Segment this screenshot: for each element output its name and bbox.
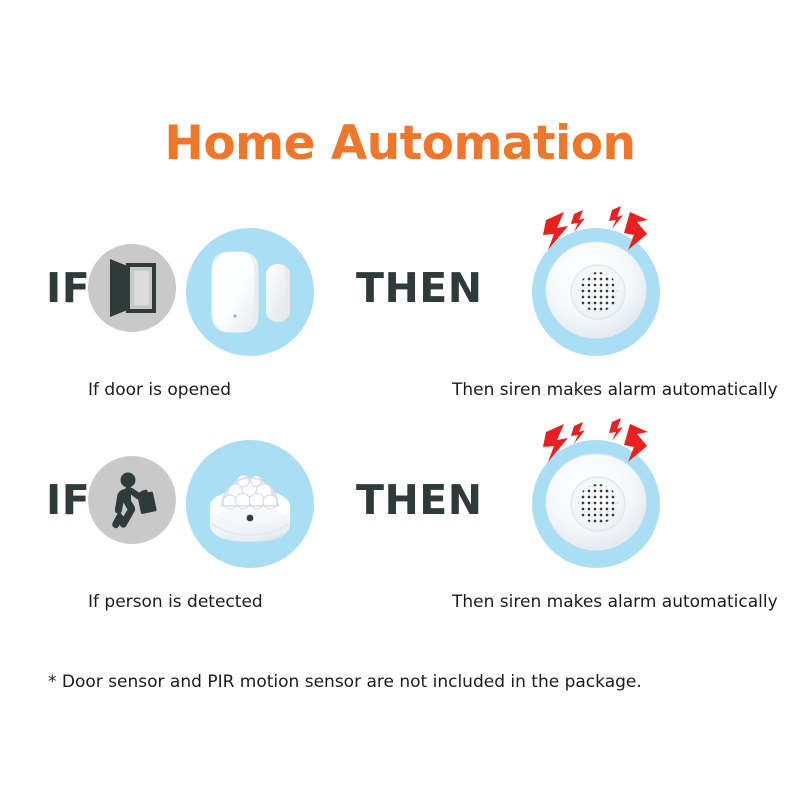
siren-product-badge-2 xyxy=(532,440,660,568)
condition-icon-badge-2 xyxy=(88,456,176,544)
siren-alarm-icon xyxy=(532,228,660,356)
pir-motion-sensor-icon xyxy=(186,440,314,568)
home-automation-infographic: Home Automation IF xyxy=(0,0,800,800)
then-keyword-2: THEN xyxy=(356,440,483,560)
action-caption-2: Then siren makes alarm automatically xyxy=(452,592,778,612)
action-caption-1: Then siren makes alarm automatically xyxy=(452,380,778,400)
siren-alarm-icon xyxy=(532,440,660,568)
if-keyword-2: IF xyxy=(46,440,90,560)
door-sensor-product-badge xyxy=(186,228,314,356)
walking-person-icon xyxy=(103,471,161,529)
automation-rule-row-1: IF xyxy=(0,228,800,408)
siren-product-badge-1 xyxy=(532,228,660,356)
pir-sensor-product-badge xyxy=(186,440,314,568)
then-keyword-1: THEN xyxy=(356,228,483,348)
condition-icon-badge-1 xyxy=(88,244,176,332)
condition-caption-2: If person is detected xyxy=(88,592,263,612)
automation-rule-row-2: IF xyxy=(0,440,800,620)
door-window-sensor-icon xyxy=(186,228,314,356)
page-title: Home Automation xyxy=(0,116,800,171)
condition-caption-1: If door is opened xyxy=(88,380,231,400)
package-footnote: * Door sensor and PIR motion sensor are … xyxy=(48,672,642,692)
open-door-icon xyxy=(106,259,158,317)
if-keyword-1: IF xyxy=(46,228,90,348)
